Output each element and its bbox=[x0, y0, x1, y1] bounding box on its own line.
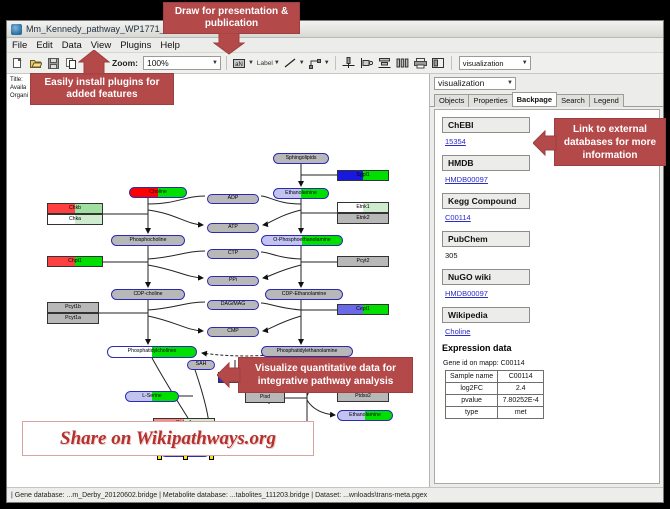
label-tool[interactable]: Label ▼ bbox=[257, 60, 280, 67]
cell-label: type bbox=[446, 407, 498, 419]
app-icon bbox=[11, 24, 22, 35]
callout-share: Share on Wikipathways.org bbox=[22, 421, 314, 456]
node-label: CMP bbox=[227, 329, 239, 334]
toolbar-separator bbox=[335, 56, 336, 70]
metabolite-node-atp[interactable]: ATP bbox=[207, 223, 259, 233]
gene-node-chkb[interactable]: Chkb bbox=[47, 203, 103, 214]
copy-icon[interactable] bbox=[64, 56, 79, 71]
link-kegg[interactable]: C00114 bbox=[445, 213, 659, 222]
metabolite-node-ppi[interactable]: PPi bbox=[207, 276, 259, 286]
status-bar: | Gene database: ...m_Derby_20120602.bri… bbox=[7, 487, 663, 502]
visualization-selector[interactable]: visualization ▼ bbox=[434, 77, 516, 90]
gene-node-pisd[interactable]: Pisd bbox=[245, 392, 285, 403]
new-icon[interactable] bbox=[10, 56, 25, 71]
callout-plugins-arrow bbox=[78, 50, 110, 75]
callout-share-text: Share on Wikipathways.org bbox=[60, 428, 276, 450]
tab-search[interactable]: Search bbox=[556, 94, 590, 108]
menu-item-help[interactable]: Help bbox=[160, 40, 180, 51]
gene-node-pcyt1b[interactable]: Pcyt1b bbox=[47, 302, 99, 313]
node-label: Ethanolamine bbox=[349, 413, 381, 418]
datanode-icon[interactable]: aN bbox=[232, 56, 247, 71]
gene-node-cept1[interactable]: Cept1 bbox=[337, 304, 389, 315]
gene-node-pcyt1a[interactable]: Pcyt1a bbox=[47, 313, 99, 324]
open-icon[interactable] bbox=[28, 56, 43, 71]
node-label: Etnk1 bbox=[356, 205, 369, 210]
table-row: Sample name C00114 bbox=[446, 371, 544, 383]
node-label: Phosphatidylcholines bbox=[128, 349, 177, 354]
chevron-down-icon: ▼ bbox=[522, 60, 528, 66]
metabolite-node-phosphatidylcholine[interactable]: Phosphatidylcholines bbox=[107, 346, 197, 358]
toolbar-separator bbox=[226, 56, 227, 70]
expression-table: Sample name C00114 log2FC 2.4 pvalue 7.8… bbox=[445, 370, 544, 419]
visualization-value: visualization bbox=[463, 59, 504, 68]
section-heading-wikipedia: Wikipedia bbox=[442, 307, 530, 323]
callout-visualize: Visualize quantitative data for integrat… bbox=[238, 357, 413, 393]
callout-draw-arrow bbox=[213, 33, 245, 55]
node-label: Etnk2 bbox=[356, 216, 369, 221]
cell-label: pvalue bbox=[446, 395, 498, 407]
menu-item-plugins[interactable]: Plugins bbox=[120, 40, 151, 51]
zoom-value: 100% bbox=[147, 58, 169, 68]
chevron-down-icon: ▼ bbox=[212, 60, 218, 66]
node-label: Chka bbox=[69, 217, 81, 222]
callout-draw: Draw for presentation & publication bbox=[163, 2, 300, 34]
visualization-combo[interactable]: visualization ▼ bbox=[459, 56, 531, 70]
link-hmdb[interactable]: HMDB00097 bbox=[445, 175, 659, 184]
metabolite-node-phosphatidyletham[interactable]: Phosphatidylethanolamine bbox=[261, 346, 353, 357]
gene-node-chka[interactable]: Chka bbox=[47, 214, 103, 225]
cell-value: 7.80252E-4 bbox=[498, 395, 544, 407]
node-label: PPi bbox=[229, 278, 237, 283]
metabolite-node-o-phosphoethanol[interactable]: O-Phosphoethanolamine bbox=[261, 235, 343, 246]
menu-item-view[interactable]: View bbox=[91, 40, 111, 51]
metabolite-node-cdp-ethanolamine[interactable]: CDP-Ethanolamine bbox=[265, 289, 343, 300]
node-label: CTP bbox=[228, 251, 238, 256]
tab-properties[interactable]: Properties bbox=[468, 94, 512, 108]
metabolite-node-cdp-choline[interactable]: CDP-choline bbox=[111, 289, 185, 300]
toolbar-separator bbox=[451, 56, 452, 70]
metabolite-node-adp[interactable]: ADP bbox=[207, 194, 259, 204]
chevron-down-icon[interactable]: ▼ bbox=[299, 60, 305, 66]
node-label: O-Phosphoethanolamine bbox=[273, 238, 330, 243]
shape-tool[interactable]: ▼ bbox=[308, 56, 330, 71]
node-label: Ptdss2 bbox=[355, 394, 371, 399]
value-pubchem: 305 bbox=[445, 251, 659, 260]
cell-value: 2.4 bbox=[498, 383, 544, 395]
visualization-selected: visualization bbox=[438, 78, 484, 88]
metabolite-node-ethanolamine-right[interactable]: Ethanolamine bbox=[337, 410, 393, 421]
section-heading-kegg: Kegg Compound bbox=[442, 193, 530, 209]
callout-visualize-arrow bbox=[217, 362, 241, 388]
align-left-icon[interactable] bbox=[359, 56, 374, 71]
callout-links: Link to external databases for more info… bbox=[554, 118, 666, 166]
line-tool[interactable]: ▼ bbox=[283, 56, 305, 71]
section-heading-hmdb: HMDB bbox=[442, 155, 530, 171]
node-label: Sphingolipids bbox=[286, 156, 317, 161]
table-row: type met bbox=[446, 407, 544, 419]
zoom-label: Zoom: bbox=[112, 58, 138, 68]
gene-node-sgpl1[interactable]: Sgpl1 bbox=[337, 170, 389, 181]
svg-text:aN: aN bbox=[236, 62, 244, 68]
datanode-tool[interactable]: aN ▼ bbox=[232, 56, 254, 71]
metabolite-node-ethanolamine-top[interactable]: Ethanolamine bbox=[273, 188, 329, 199]
callout-plugins: Easily install plugins for added feature… bbox=[30, 73, 174, 105]
title-bar: Mm_Kennedy_pathway_WP1771_45176.gpml bbox=[7, 21, 663, 38]
node-label: Chpt1 bbox=[68, 259, 82, 264]
node-label: Pisd bbox=[260, 395, 270, 400]
metabolite-node-dagmag[interactable]: DAG/MAG bbox=[207, 300, 259, 310]
menu-item-edit[interactable]: Edit bbox=[36, 40, 52, 51]
status-text: | Gene database: ...m_Derby_20120602.bri… bbox=[11, 492, 427, 499]
gene-node-etnk1[interactable]: Etnk1 bbox=[337, 202, 389, 213]
node-label: Phosphatidylethanolamine bbox=[277, 349, 338, 354]
metabolite-node-choline-top[interactable]: Choline bbox=[129, 187, 187, 198]
order-icon[interactable] bbox=[431, 56, 446, 71]
gene-node-chpt1[interactable]: Chpt1 bbox=[47, 256, 103, 267]
node-label: Pcyt1a bbox=[65, 316, 81, 321]
node-label: Choline bbox=[149, 190, 167, 195]
label-tool-label: Label bbox=[257, 60, 273, 67]
print-icon[interactable] bbox=[413, 56, 428, 71]
metabolite-node-ctp[interactable]: CTP bbox=[207, 249, 259, 259]
cell-value: met bbox=[498, 407, 544, 419]
node-label: SAH bbox=[196, 362, 207, 367]
node-label: CDP-choline bbox=[133, 292, 162, 297]
cell-label: Sample name bbox=[446, 371, 498, 383]
table-row: pvalue 7.80252E-4 bbox=[446, 395, 544, 407]
metabolite-node-phosphocholine[interactable]: Phosphocholine bbox=[111, 235, 185, 246]
gene-node-etnk2[interactable]: Etnk2 bbox=[337, 213, 389, 224]
tab-objects[interactable]: Objects bbox=[434, 94, 469, 108]
section-heading-pubchem: PubChem bbox=[442, 231, 530, 247]
node-label: Pcyt1b bbox=[65, 305, 81, 310]
metabolite-node-sphingolipids[interactable]: Sphingolipids bbox=[273, 153, 329, 164]
distribute-icon[interactable] bbox=[395, 56, 410, 71]
node-label: Pcyt2 bbox=[357, 259, 370, 264]
node-label: ADP bbox=[228, 196, 239, 201]
node-label: Cept1 bbox=[356, 307, 370, 312]
node-label: Phosphocholine bbox=[130, 238, 167, 243]
node-label: Chkb bbox=[69, 206, 81, 211]
zoom-combo[interactable]: 100% ▼ bbox=[143, 56, 221, 70]
chevron-down-icon[interactable]: ▼ bbox=[324, 60, 330, 66]
side-panel-tabs: Objects Properties Backpage Search Legen… bbox=[430, 92, 663, 107]
align-icon[interactable] bbox=[341, 56, 356, 71]
metabolite-node-cmp[interactable]: CMP bbox=[207, 327, 259, 337]
gene-id-line: Gene id on mapp: C00114 bbox=[443, 360, 659, 367]
expression-data-title: Expression data bbox=[442, 343, 659, 353]
node-label: Sgpl1 bbox=[356, 173, 369, 178]
chevron-down-icon: ▼ bbox=[507, 80, 513, 86]
metabolite-node-sah[interactable]: SAH bbox=[187, 360, 215, 370]
stack-icon[interactable] bbox=[377, 56, 392, 71]
gene-node-pcyt2[interactable]: Pcyt2 bbox=[337, 256, 389, 267]
section-heading-chebi: ChEBI bbox=[442, 117, 530, 133]
visualization-bar: visualization ▼ bbox=[430, 74, 663, 92]
section-heading-nugo: NuGO wiki bbox=[442, 269, 530, 285]
save-icon[interactable] bbox=[46, 56, 61, 71]
menu-item-data[interactable]: Data bbox=[62, 40, 82, 51]
node-label: CDP-Ethanolamine bbox=[282, 292, 326, 297]
link-wikipedia[interactable]: Choline bbox=[445, 327, 659, 336]
callout-links-arrow bbox=[533, 130, 557, 156]
cell-label: log2FC bbox=[446, 383, 498, 395]
table-row: log2FC 2.4 bbox=[446, 383, 544, 395]
metabolite-node-l-serine-left[interactable]: L-Serine bbox=[125, 391, 179, 402]
tab-legend[interactable]: Legend bbox=[589, 94, 624, 108]
tab-backpage[interactable]: Backpage bbox=[512, 92, 557, 107]
chevron-down-icon[interactable]: ▼ bbox=[248, 60, 254, 66]
chevron-down-icon[interactable]: ▼ bbox=[274, 60, 280, 66]
node-label: Ethanolamine bbox=[285, 191, 317, 196]
node-label: L-Serine bbox=[142, 394, 162, 399]
node-label: DAG/MAG bbox=[221, 302, 246, 307]
line-icon[interactable] bbox=[283, 56, 298, 71]
cell-value: C00114 bbox=[498, 371, 544, 383]
menu-item-file[interactable]: File bbox=[12, 40, 27, 51]
node-label: ATP bbox=[228, 225, 238, 230]
shape-icon[interactable] bbox=[308, 56, 323, 71]
link-nugo[interactable]: HMDB00097 bbox=[445, 289, 659, 298]
